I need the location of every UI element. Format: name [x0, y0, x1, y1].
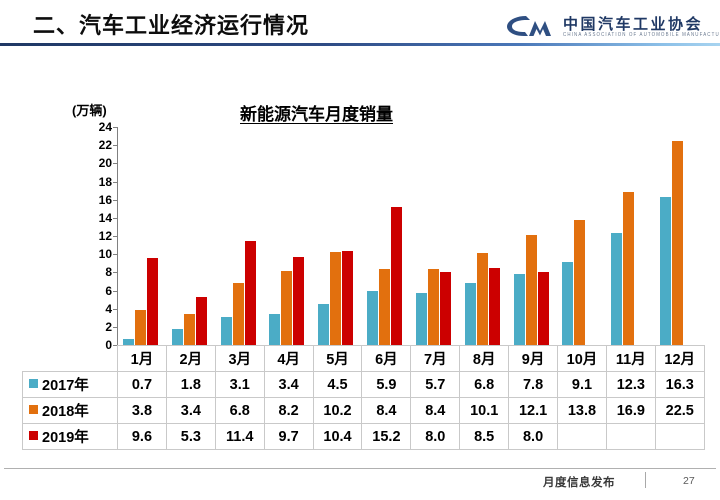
- y-axis-tick-mark: [113, 236, 118, 237]
- table-column-header-10: 10月: [558, 346, 607, 372]
- bar-2019-5月: [342, 251, 353, 345]
- bar-group-1: [123, 127, 158, 345]
- table-cell: 12.1: [509, 398, 558, 424]
- table-cell: 12.3: [606, 372, 655, 398]
- y-axis-tick-label: 4: [78, 303, 112, 315]
- table-cell: 8.5: [460, 424, 509, 450]
- bar-2019-3月: [245, 241, 256, 345]
- table-cell: 3.4: [166, 398, 215, 424]
- legend-series-label: 2018年: [42, 404, 89, 420]
- header-divider: [0, 43, 720, 46]
- legend-item-2017: 2017年: [23, 372, 118, 398]
- caam-logo-mark-icon: [505, 14, 557, 38]
- y-axis-tick-label: 16: [78, 194, 112, 206]
- table-cell: 6.8: [460, 372, 509, 398]
- y-axis-labels: 242220181614121086420: [74, 127, 112, 345]
- bar-2019-7月: [440, 272, 451, 345]
- bar-2019-4月: [293, 257, 304, 345]
- bar-2017-2月: [172, 329, 183, 345]
- table-cell: 8.0: [411, 424, 460, 450]
- table-column-header-12: 12月: [655, 346, 704, 372]
- table-column-header-11: 11月: [606, 346, 655, 372]
- table-cell: 8.4: [362, 398, 411, 424]
- caam-logo: 中国汽车工业协会 CHINA ASSOCIATION OF AUTOMOBILE…: [505, 12, 705, 42]
- bar-2019-9月: [538, 272, 549, 345]
- table-header-row: 1月2月3月4月5月6月7月8月9月10月11月12月: [23, 346, 705, 372]
- table-cell: 0.7: [118, 372, 167, 398]
- bar-2019-2月: [196, 297, 207, 345]
- table-cell: 3.4: [264, 372, 313, 398]
- y-axis-tick-label: 18: [78, 176, 112, 188]
- y-axis-tick-mark: [113, 309, 118, 310]
- legend-series-label: 2019年: [42, 430, 89, 446]
- y-axis-tick-label: 22: [78, 139, 112, 151]
- y-axis-tick-label: 10: [78, 248, 112, 260]
- y-axis-tick-mark: [113, 127, 118, 128]
- bar-group-3: [221, 127, 256, 345]
- y-axis-tick-label: 6: [78, 285, 112, 297]
- y-axis-tick-mark: [113, 145, 118, 146]
- y-axis-tick-label: 24: [78, 121, 112, 133]
- bar-2018-3月: [233, 283, 244, 345]
- table-cell: 22.5: [655, 398, 704, 424]
- slide-header: 二、汽车工业经济运行情况 中国汽车工业协会 CHINA ASSOCIATION …: [0, 0, 720, 48]
- legend-item-2019: 2019年: [23, 424, 118, 450]
- page-number: 27: [683, 475, 695, 487]
- bar-2018-6月: [379, 269, 390, 345]
- legend-swatch-icon: [29, 379, 38, 388]
- footer-label: 月度信息发布: [543, 474, 615, 490]
- table-cell: 10.4: [313, 424, 362, 450]
- bar-group-2: [172, 127, 207, 345]
- table-row: 2018年3.83.46.88.210.28.48.410.112.113.81…: [23, 398, 705, 424]
- footer-divider: [4, 468, 716, 469]
- bar-group-12: [660, 127, 695, 345]
- bar-2018-5月: [330, 252, 341, 345]
- bar-group-7: [416, 127, 451, 345]
- bar-group-9: [514, 127, 549, 345]
- table-cell: 3.1: [215, 372, 264, 398]
- data-table: 1月2月3月4月5月6月7月8月9月10月11月12月2017年0.71.83.…: [22, 345, 705, 450]
- bar-2018-4月: [281, 271, 292, 345]
- bar-2017-8月: [465, 283, 476, 345]
- table-column-header-7: 7月: [411, 346, 460, 372]
- bar-2018-12月: [672, 141, 683, 345]
- bar-2017-11月: [611, 233, 622, 345]
- y-axis-tick-mark: [113, 254, 118, 255]
- logo-english-name: CHINA ASSOCIATION OF AUTOMOBILE MANUFACT…: [563, 31, 720, 37]
- table-cell: 1.8: [166, 372, 215, 398]
- bar-2017-9月: [514, 274, 525, 345]
- bar-2017-10月: [562, 262, 573, 345]
- bar-2018-8月: [477, 253, 488, 345]
- table-body: 1月2月3月4月5月6月7月8月9月10月11月12月2017年0.71.83.…: [23, 346, 705, 450]
- table-cell: [655, 424, 704, 450]
- table-cell: 8.0: [509, 424, 558, 450]
- y-axis-tick-mark: [113, 182, 118, 183]
- table-column-header-4: 4月: [264, 346, 313, 372]
- plot-region: [117, 127, 704, 345]
- table-cell: 16.3: [655, 372, 704, 398]
- y-axis-tick-mark: [113, 218, 118, 219]
- bar-group-10: [562, 127, 597, 345]
- table-cell: 7.8: [509, 372, 558, 398]
- table-cell: 8.2: [264, 398, 313, 424]
- table-cell: 5.7: [411, 372, 460, 398]
- bar-2018-1月: [135, 310, 146, 345]
- bar-group-6: [367, 127, 402, 345]
- y-axis-tick-mark: [113, 327, 118, 328]
- bar-group-11: [611, 127, 646, 345]
- legend-swatch-icon: [29, 405, 38, 414]
- table-cell: 3.8: [118, 398, 167, 424]
- table-cell: 9.7: [264, 424, 313, 450]
- table-cell: 5.9: [362, 372, 411, 398]
- bar-2017-7月: [416, 293, 427, 345]
- bar-2018-10月: [574, 220, 585, 345]
- table-column-header-8: 8月: [460, 346, 509, 372]
- table-column-header-6: 6月: [362, 346, 411, 372]
- table-cell: 13.8: [558, 398, 607, 424]
- table-cell: [558, 424, 607, 450]
- legend-item-2018: 2018年: [23, 398, 118, 424]
- table-row: 2017年0.71.83.13.44.55.95.76.87.89.112.31…: [23, 372, 705, 398]
- table-row: 2019年9.65.311.49.710.415.28.08.58.0: [23, 424, 705, 450]
- bar-group-8: [465, 127, 500, 345]
- bar-2019-6月: [391, 207, 402, 345]
- table-cell: 11.4: [215, 424, 264, 450]
- table-cell: 9.1: [558, 372, 607, 398]
- bar-2017-5月: [318, 304, 329, 345]
- y-axis-tick-label: 14: [78, 212, 112, 224]
- table-cell: 10.2: [313, 398, 362, 424]
- y-axis-unit-label: (万辆): [72, 100, 107, 119]
- table-column-header-3: 3月: [215, 346, 264, 372]
- table-column-header-2: 2月: [166, 346, 215, 372]
- y-axis-tick-label: 20: [78, 157, 112, 169]
- bar-2018-2月: [184, 314, 195, 345]
- bar-2018-9月: [526, 235, 537, 345]
- table-cell: 9.6: [118, 424, 167, 450]
- table-cell: 4.5: [313, 372, 362, 398]
- table-cell: 10.1: [460, 398, 509, 424]
- bar-2019-8月: [489, 268, 500, 345]
- y-axis-tick-mark: [113, 200, 118, 201]
- table-cell: 5.3: [166, 424, 215, 450]
- y-axis-tick-mark: [113, 163, 118, 164]
- y-axis-tick-label: 12: [78, 230, 112, 242]
- page-title: 二、汽车工业经济运行情况: [33, 8, 309, 40]
- table-column-header-9: 9月: [509, 346, 558, 372]
- bar-2019-1月: [147, 258, 158, 345]
- table-legend-header-cell: [23, 346, 118, 372]
- legend-series-label: 2017年: [42, 378, 89, 394]
- bar-2017-4月: [269, 314, 280, 345]
- table-cell: 15.2: [362, 424, 411, 450]
- y-axis-tick-label: 8: [78, 266, 112, 278]
- chart-title: 新能源汽车月度销量: [240, 100, 393, 125]
- y-axis-tick-mark: [113, 272, 118, 273]
- y-axis-tick-label: 2: [78, 321, 112, 333]
- bar-2017-6月: [367, 291, 378, 345]
- table-column-header-5: 5月: [313, 346, 362, 372]
- table-column-header-1: 1月: [118, 346, 167, 372]
- bar-2017-12月: [660, 197, 671, 345]
- legend-swatch-icon: [29, 431, 38, 440]
- bar-group-5: [318, 127, 353, 345]
- y-axis-tick-mark: [113, 291, 118, 292]
- table-cell: 6.8: [215, 398, 264, 424]
- footer-separator: [645, 472, 646, 488]
- bar-2018-11月: [623, 192, 634, 346]
- bar-group-4: [269, 127, 304, 345]
- table-cell: 16.9: [606, 398, 655, 424]
- bar-2018-7月: [428, 269, 439, 345]
- table-cell: [606, 424, 655, 450]
- bar-2017-3月: [221, 317, 232, 345]
- table-cell: 8.4: [411, 398, 460, 424]
